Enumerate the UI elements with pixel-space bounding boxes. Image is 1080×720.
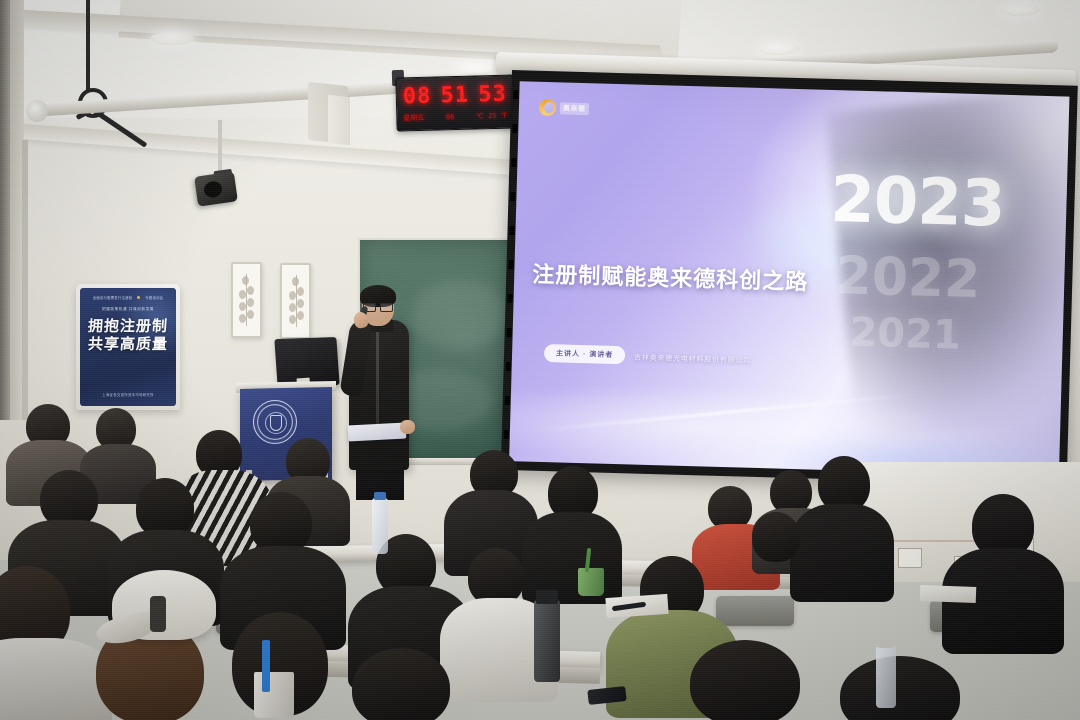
decor-motif xyxy=(289,315,296,324)
notebook-paper xyxy=(920,585,977,603)
left-frame-edge xyxy=(22,140,28,420)
audience-head xyxy=(352,648,450,720)
ceiling-light-4 xyxy=(1000,4,1040,16)
chalk-smudge xyxy=(412,280,508,350)
clock-hours: 08 xyxy=(402,83,431,109)
decor-motif xyxy=(297,311,304,320)
slide-logo: 奥来德 xyxy=(539,99,589,117)
decor-motif xyxy=(239,314,246,323)
bottle-cap xyxy=(374,492,386,500)
ceiling-light-3 xyxy=(758,42,800,55)
clock-minutes: 51 xyxy=(440,82,469,108)
decor-motif xyxy=(239,290,246,299)
clock-seconds: 53 xyxy=(478,81,507,107)
decor-motif xyxy=(292,277,299,286)
lecture-hall-photo: 08 51 53 星期五 06 ℃ 25 ℉ 全面实行股票 xyxy=(0,0,1080,720)
slide-background-wave xyxy=(509,277,1069,476)
banner-top-right-text: 专题培训会 xyxy=(145,295,163,300)
slide-year-2022: 2022 xyxy=(835,250,981,306)
clock-time: 08 51 53 xyxy=(402,80,507,111)
decor-motif xyxy=(247,310,254,319)
decor-motif xyxy=(297,287,304,296)
blue-straw xyxy=(262,640,270,692)
wall-speaker xyxy=(194,171,238,206)
clock-date: 06 xyxy=(446,113,455,121)
water-bottle[interactable] xyxy=(372,498,388,554)
university-seal-emblem xyxy=(253,400,297,444)
banner-bullet-icon xyxy=(137,296,140,299)
presenter-hand-right xyxy=(400,420,415,434)
banner-subtitle: 把握政策机遇 共谋创新发展 xyxy=(102,307,154,312)
banner-top-left-text: 全面实行股票发行注册制 xyxy=(93,295,133,300)
clock-temperature: ℃ 25 ℉ xyxy=(476,112,508,121)
wall-duct-inner xyxy=(328,95,350,145)
wall-socket-left[interactable] xyxy=(898,548,922,568)
audience-body xyxy=(790,504,894,602)
water-bottle-right[interactable] xyxy=(876,646,896,708)
dark-thermos-bottle[interactable] xyxy=(534,600,560,682)
slide-logo-text: 奥来德 xyxy=(560,102,589,115)
roll-up-banner: 全面实行股票发行注册制 专题培训会 把握政策机遇 共谋创新发展 拥抱注册制 共享… xyxy=(76,284,180,410)
decor-motif xyxy=(242,276,249,285)
ceiling-light-2 xyxy=(455,62,497,75)
decor-motif xyxy=(289,291,296,300)
presenter-notes xyxy=(348,422,407,441)
ceiling-light-1 xyxy=(150,32,194,45)
banner-footer: 上海证券交易所资本市场研究所 xyxy=(102,392,154,397)
wall-decor-frame-left xyxy=(231,262,262,338)
decor-motif xyxy=(239,302,246,311)
bottle-cap-right xyxy=(878,640,893,648)
slide-year-2021: 2021 xyxy=(849,313,961,356)
thermos-cap xyxy=(536,590,558,604)
banner-headline-2: 共享高质量 xyxy=(87,336,168,353)
left-door-gap xyxy=(0,0,10,420)
decor-motif xyxy=(247,298,254,307)
clock-weekday: 星期五 xyxy=(403,113,424,124)
banner-headline-1: 拥抱注册制 xyxy=(87,318,168,335)
audience-head xyxy=(690,640,800,720)
banner-top-row: 全面实行股票发行注册制 专题培训会 xyxy=(93,295,163,300)
projection-screen: 奥来德 2023 2022 2021 注册制赋能奥来德科创之路 主讲人 · 演讲… xyxy=(501,70,1078,486)
green-cup[interactable] xyxy=(578,568,604,596)
chair-back xyxy=(716,596,794,626)
presentation-slide: 奥来德 2023 2022 2021 注册制赋能奥来德科创之路 主讲人 · 演讲… xyxy=(509,81,1069,476)
cap-strap xyxy=(150,596,166,632)
decor-motif xyxy=(247,286,254,295)
decor-motif xyxy=(297,299,304,308)
decor-motif xyxy=(289,303,296,312)
slide-year-2023: 2023 xyxy=(829,168,1005,237)
projector-drop-rod xyxy=(86,0,90,92)
slide-speaker-pill: 主讲人 · 演讲者 xyxy=(544,344,626,364)
audience-head xyxy=(752,512,800,562)
audience-head xyxy=(136,478,194,538)
conduit-end-cap xyxy=(26,100,48,122)
clock-secondary-row: 星期五 06 ℃ 25 ℉ xyxy=(403,109,507,126)
led-wall-clock: 08 51 53 星期五 06 ℃ 25 ℉ xyxy=(395,74,514,131)
audience-head xyxy=(840,656,960,720)
audience-head xyxy=(250,492,312,554)
wall-decor-frame-right xyxy=(280,263,311,339)
banner-face: 全面实行股票发行注册制 专题培训会 把握政策机遇 共谋创新发展 拥抱注册制 共享… xyxy=(80,288,176,406)
blue-straw-cup[interactable] xyxy=(254,672,294,718)
company-logo-icon xyxy=(539,99,556,116)
